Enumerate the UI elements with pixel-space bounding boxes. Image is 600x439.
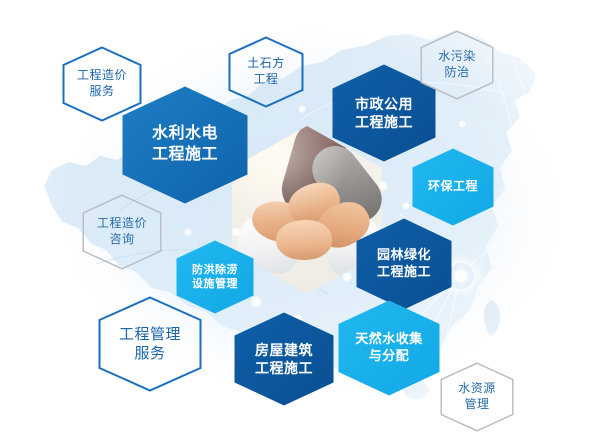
hexagon-label: 市政公用 工程施工	[353, 95, 415, 131]
hexagon-water-conservancy-hydropower-construction[interactable]: 水利水电 工程施工	[122, 86, 248, 204]
hexagon-label: 防洪除涝 设施管理	[190, 263, 240, 292]
hexagon-water-pollution-control[interactable]: 水污染 防治	[420, 30, 494, 100]
hexagon-label: 土石方 工程	[245, 56, 287, 87]
hexagon-label: 工程管理 服务	[117, 325, 183, 364]
hexagon-label: 园林绿化 工程施工	[375, 247, 433, 281]
hexagon-label: 水资源 管理	[456, 381, 498, 412]
hexagon-label: 天然水收集 与分配	[353, 331, 425, 365]
hexagon-label: 水利水电 工程施工	[150, 124, 220, 166]
hexagon-environmental-protection-engineering[interactable]: 环保工程	[412, 148, 494, 226]
hexagon-building-construction[interactable]: 房屋建筑 工程施工	[234, 312, 334, 406]
hexagon-label: 房屋建筑 工程施工	[253, 341, 315, 377]
hexagon-label: 水污染 防治	[436, 49, 478, 80]
hexagon-label: 环保工程	[426, 179, 480, 195]
hexagon-landscaping-construction[interactable]: 园林绿化 工程施工	[356, 218, 452, 310]
infographic-canvas: 工程造价 服务土石方 工程水利水电 工程施工市政公用 工程施工水污染 防治环保工…	[0, 0, 600, 439]
hexagon-label: 工程造价 服务	[75, 68, 129, 99]
hexagon-label: 工程造价 咨询	[95, 216, 149, 247]
hexagon-water-resources-management[interactable]: 水资源 管理	[440, 362, 514, 432]
hexagon-engineering-cost-consulting[interactable]: 工程造价 咨询	[82, 194, 162, 270]
hexagon-natural-water-collection-distribution[interactable]: 天然水收集 与分配	[338, 300, 440, 396]
hexagon-engineering-management-service[interactable]: 工程管理 服务	[98, 296, 202, 392]
